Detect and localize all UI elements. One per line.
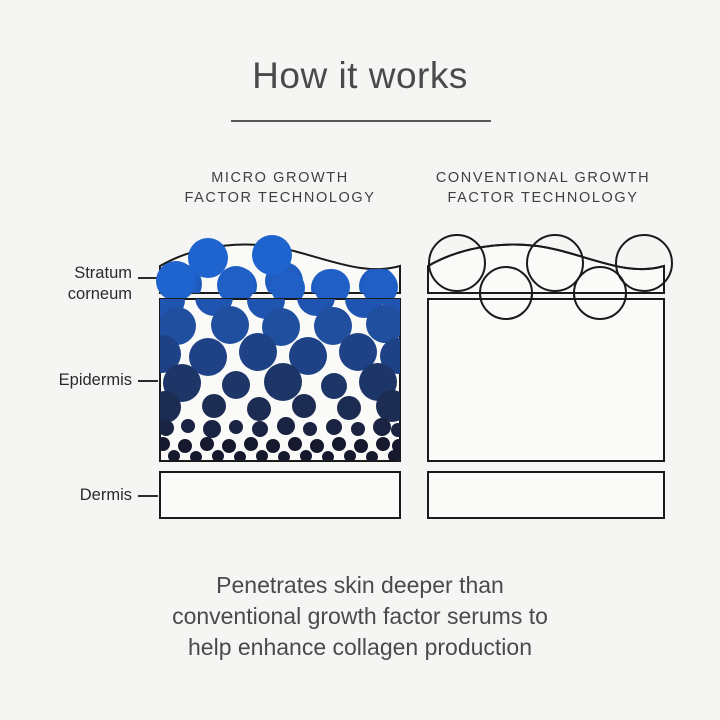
- caption-line-2: conventional growth factor serums to: [100, 601, 620, 632]
- caption-line-1: Penetrates skin deeper than: [100, 570, 620, 601]
- right-dermis-box: [428, 472, 664, 518]
- caption-line-3: help enhance collagen production: [100, 632, 620, 663]
- left-panel-micro: [143, 235, 418, 518]
- left-dermis-box: [160, 472, 400, 518]
- right-epidermis-box: [428, 299, 664, 461]
- caption: Penetrates skin deeper than conventional…: [100, 570, 620, 663]
- right-panel-conventional: [428, 235, 672, 518]
- infographic-canvas: How it works MICRO GROWTH FACTOR TECHNOL…: [0, 0, 720, 720]
